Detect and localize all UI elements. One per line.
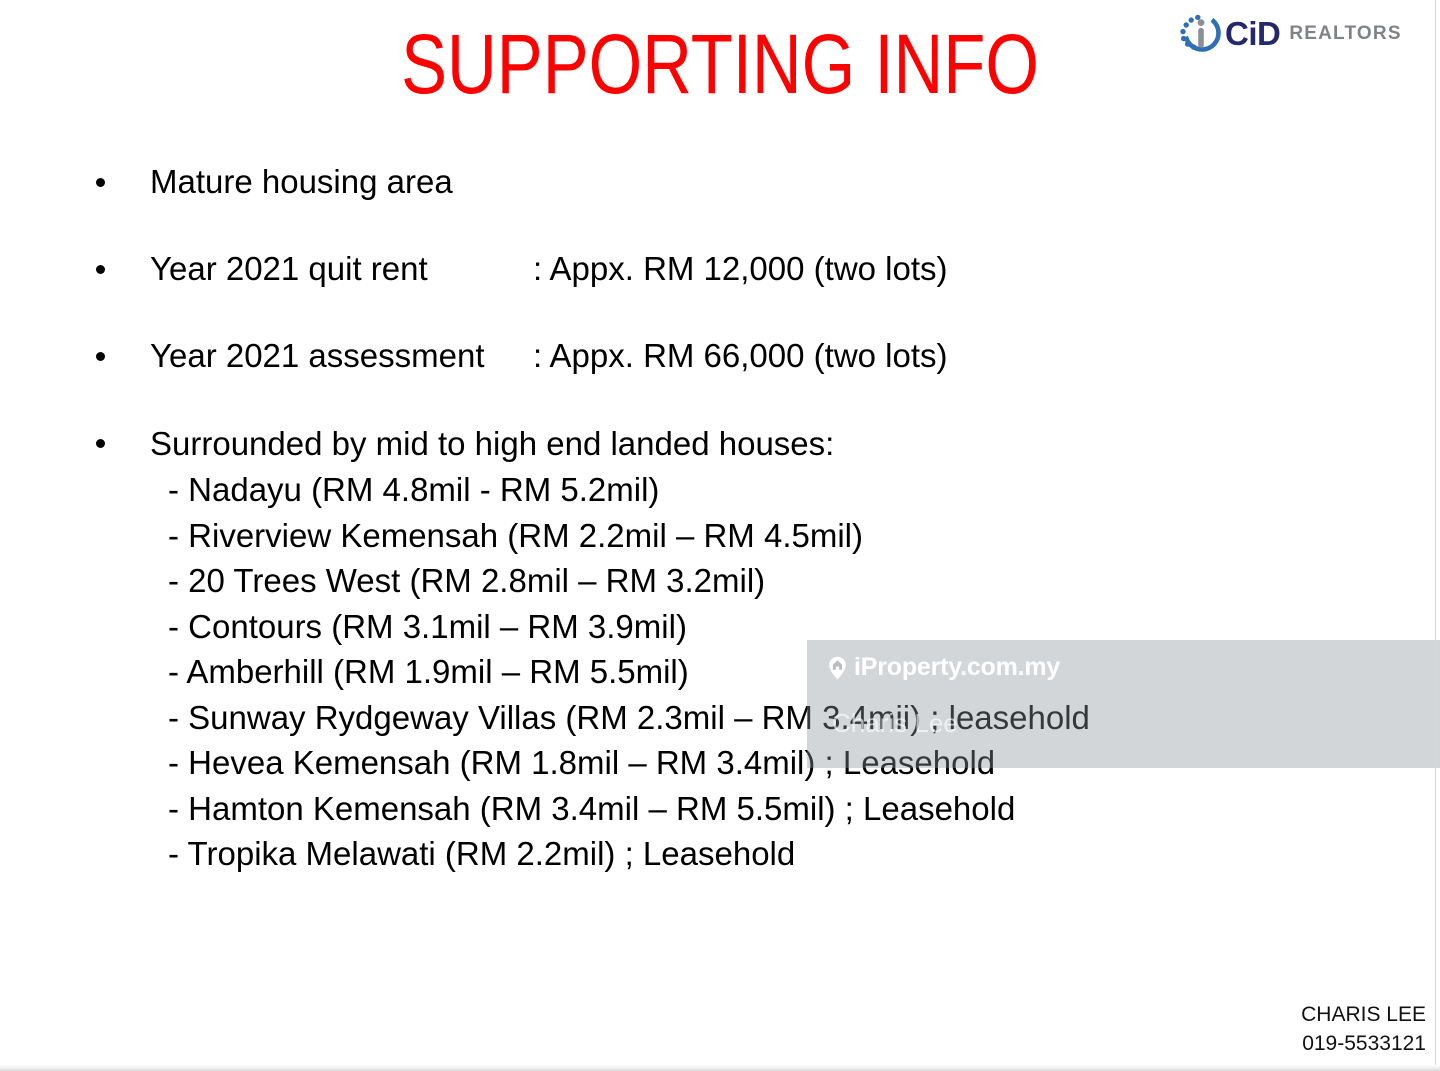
page-edge-line: [1435, 0, 1436, 1071]
assessment-value: : Appx. RM 66,000 (two lots): [533, 334, 948, 378]
bullet-item-assessment: Year 2021 assessment : Appx. RM 66,000 (…: [0, 334, 1440, 378]
surrounded-heading: Surrounded by mid to high end landed hou…: [150, 421, 834, 467]
watermark-agent-name: Charis Lee: [832, 710, 958, 736]
list-item: - 20 Trees West (RM 2.8mil – RM 3.2mil): [168, 558, 1440, 604]
watermark-brand-text: iProperty.com.my: [854, 655, 1060, 680]
watermark-brand-row: iProperty.com.my: [828, 655, 1060, 680]
list-item: - Riverview Kemensah (RM 2.2mil – RM 4.5…: [168, 513, 1440, 559]
bullet-text-mature-housing: Mature housing area: [150, 160, 453, 204]
iproperty-watermark: iProperty.com.my Charis Lee: [807, 640, 1440, 768]
bullet-item-surrounded: Surrounded by mid to high end landed hou…: [0, 421, 1440, 467]
assessment-label: Year 2021 assessment: [150, 334, 533, 378]
page-title: SUPPORTING INFO: [130, 16, 1311, 112]
quit-rent-value: : Appx. RM 12,000 (two lots): [533, 247, 948, 291]
contact-name: CHARIS LEE: [1301, 1000, 1426, 1029]
presentation-slide: CiD REALTORS SUPPORTING INFO Mature hous…: [0, 0, 1440, 1071]
bullet-item-quit-rent: Year 2021 quit rent : Appx. RM 12,000 (t…: [0, 247, 1440, 291]
map-pin-house-icon: [828, 656, 847, 680]
list-item: - Hamton Kemensah (RM 3.4mil – RM 5.5mil…: [168, 786, 1440, 832]
contact-phone: 019-5533121: [1301, 1029, 1426, 1058]
slide-body: Mature housing area Year 2021 quit rent …: [0, 160, 1440, 877]
list-item: - Tropika Melawati (RM 2.2mil) ; Leaseho…: [168, 831, 1440, 877]
bullet-dot-icon: [96, 439, 105, 448]
bullet-dot-icon: [96, 352, 105, 361]
bullet-dot-icon: [96, 265, 105, 274]
page-bottom-shadow: [0, 1065, 1440, 1071]
bullet-dot-icon: [96, 178, 105, 187]
bullet-item-mature-housing: Mature housing area: [0, 160, 1440, 204]
list-item: - Nadayu (RM 4.8mil - RM 5.2mil): [168, 467, 1440, 513]
contact-block: CHARIS LEE 019-5533121: [1301, 1000, 1426, 1058]
quit-rent-label: Year 2021 quit rent: [150, 247, 533, 291]
